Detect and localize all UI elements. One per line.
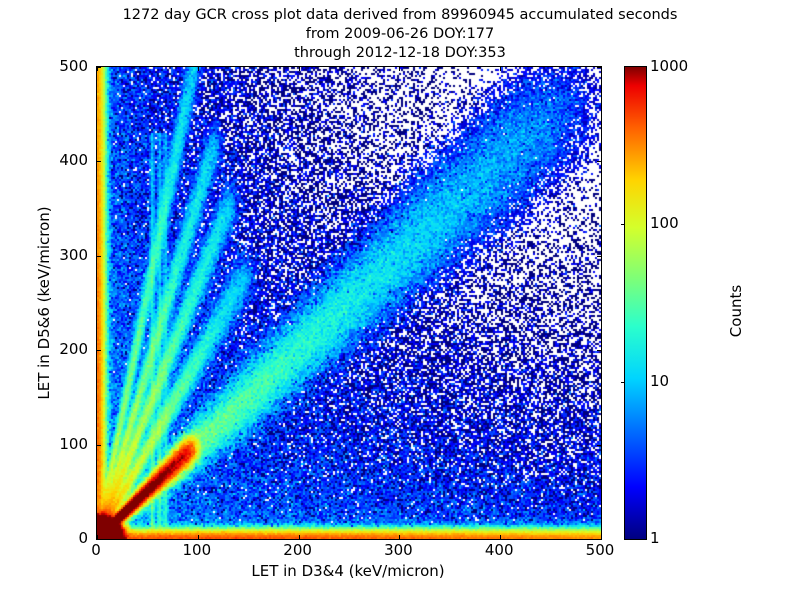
x-tick-label: 500 [586,541,615,559]
colorbar-tick-mark [621,382,625,383]
density-heatmap [97,67,601,539]
x-tick-mark [399,535,400,539]
y-tick-mark [97,67,101,68]
plot-title: 1272 day GCR cross plot data derived fro… [0,6,800,63]
y-tick-label: 0 [30,529,88,547]
y-tick-mark [597,256,601,257]
y-tick-mark [97,539,101,540]
x-axis-label: LET in D3&4 (keV/micron) [96,562,600,580]
x-tick-mark [601,535,602,539]
y-tick-mark [597,445,601,446]
y-tick-mark [97,350,101,351]
title-line-1: 1272 day GCR cross plot data derived fro… [0,6,800,25]
x-tick-label: 400 [485,541,514,559]
colorbar-tick-label: 100 [650,214,679,232]
x-tick-mark [500,535,501,539]
x-tick-label: 100 [182,541,211,559]
x-tick-mark [198,67,199,71]
y-tick-label: 200 [30,340,88,358]
y-tick-mark [97,445,101,446]
colorbar-tick-label: 1000 [650,57,688,75]
colorbar[interactable] [624,66,647,540]
scatter-density-plot[interactable] [96,66,602,540]
x-tick-mark [601,67,602,71]
y-tick-mark [597,161,601,162]
colorbar-tick-label: 1 [650,529,660,547]
x-tick-mark [198,535,199,539]
y-tick-mark [597,350,601,351]
x-tick-label: 0 [91,541,101,559]
x-tick-mark [299,535,300,539]
y-tick-mark [97,161,101,162]
colorbar-gradient [625,67,646,539]
y-tick-label: 300 [30,246,88,264]
x-tick-mark [399,67,400,71]
x-tick-mark [500,67,501,71]
x-tick-label: 200 [283,541,312,559]
title-line-2: from 2009-06-26 DOY:177 [0,25,800,44]
y-tick-mark [597,539,601,540]
figure-canvas: 1272 day GCR cross plot data derived fro… [0,0,800,600]
y-tick-label: 400 [30,151,88,169]
y-tick-label: 100 [30,435,88,453]
y-tick-mark [597,67,601,68]
colorbar-label: Counts [727,211,745,411]
colorbar-tick-label: 10 [650,372,669,390]
x-tick-mark [299,67,300,71]
y-tick-label: 500 [30,57,88,75]
y-tick-mark [97,256,101,257]
colorbar-tick-mark [621,224,625,225]
x-tick-label: 300 [384,541,413,559]
y-axis-label: LET in D5&6 (keV/micron) [35,173,53,433]
